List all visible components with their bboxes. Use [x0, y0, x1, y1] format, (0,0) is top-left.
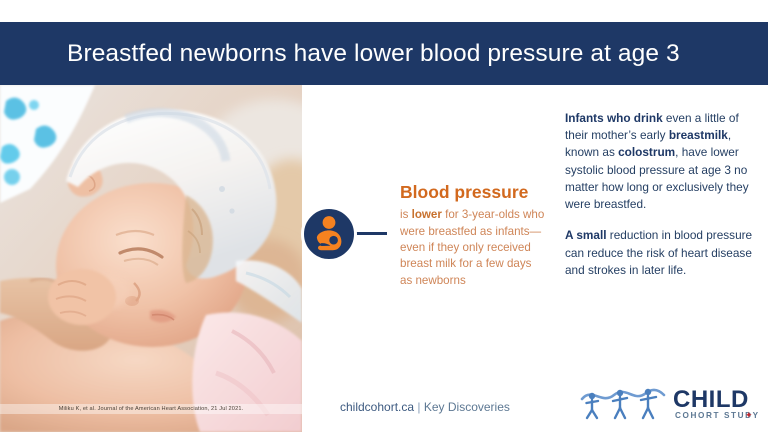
- page-title: Breastfed newborns have lower blood pres…: [67, 40, 680, 68]
- key-finding-body: is lower for 3-year-olds who were breast…: [400, 207, 545, 289]
- child-cohort-study-logo: CHILD COHORT STUDY ✦: [578, 383, 758, 423]
- breastfeeding-icon: [301, 206, 357, 262]
- detail-p2-bold-1: A small: [565, 228, 607, 242]
- key-finding-heading: Blood pressure: [400, 182, 545, 202]
- detail-paragraph-2: A small reduction in blood pressure can …: [565, 227, 755, 279]
- detail-p1-bold-2: breastmilk: [669, 128, 728, 142]
- footer-section-label: Key Discoveries: [424, 400, 510, 414]
- detail-p1-bold-1: Infants who drink: [565, 111, 663, 125]
- logo-figure-3: [641, 389, 656, 418]
- key-finding-block: Blood pressure is lower for 3-year-olds …: [400, 182, 545, 289]
- breastfeeding-glyph: [309, 214, 349, 254]
- footer-attribution: childcohort.ca | Key Discoveries: [340, 400, 510, 414]
- detail-text-column: Infants who drink even a little of their…: [565, 110, 755, 279]
- detail-paragraph-1: Infants who drink even a little of their…: [565, 110, 755, 213]
- logo-wordmark: CHILD: [673, 386, 749, 413]
- icon-connector-line: [355, 232, 387, 235]
- logo-graphic: CHILD COHORT STUDY ✦: [578, 383, 758, 423]
- photo-citation: Miliku K, et al. Journal of the American…: [0, 404, 302, 414]
- detail-p1-bold-3: colostrum: [618, 145, 675, 159]
- title-band: Breastfed newborns have lower blood pres…: [0, 22, 768, 85]
- infographic-canvas: Breastfed newborns have lower blood pres…: [0, 0, 768, 432]
- hero-photo: Miliku K, et al. Journal of the American…: [0, 85, 302, 432]
- footer-url-text[interactable]: childcohort.ca: [340, 400, 414, 414]
- maple-leaf-icon: ✦: [745, 410, 753, 420]
- key-finding-emphasis: lower: [412, 208, 442, 221]
- newborn-photo-illustration: [0, 85, 302, 432]
- key-finding-text-1: is: [400, 208, 412, 221]
- footer-separator: |: [417, 400, 420, 414]
